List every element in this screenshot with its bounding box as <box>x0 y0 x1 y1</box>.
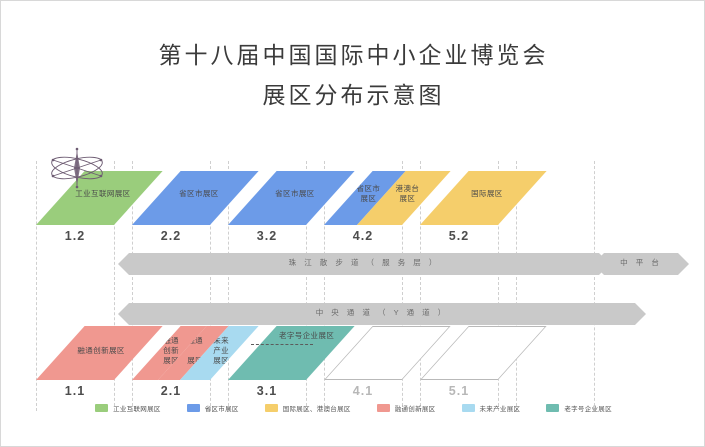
hall-3-1-number: 3.1 <box>228 384 306 398</box>
legend-swatch-international <box>265 404 278 412</box>
corridor-central-y: 中 央 通 道 （ Y 通 道 ） <box>129 303 635 325</box>
hall-2-2-number: 2.2 <box>132 229 210 243</box>
hall-4-2-number: 4.2 <box>324 229 402 243</box>
legend-label-2: 国际展区、港澳台展区 <box>283 403 351 413</box>
corridor-riverside-walk: 珠 江 散 步 道 （ 服 务 层 ） <box>129 253 599 275</box>
legend-item-3: 融通创新展区 <box>377 403 436 413</box>
hall-3-1-inner-divider <box>251 344 313 345</box>
legend-item-2: 国际展区、港澳台展区 <box>265 403 351 413</box>
legend-label-3: 融通创新展区 <box>395 403 436 413</box>
legend-label-0: 工业互联网展区 <box>113 403 161 413</box>
hall-3-2-zone-label: 省区市展区 <box>256 189 334 199</box>
title-line-1: 第十八届中国国际中小企业博览会 <box>1 35 705 75</box>
hall-5-2-number: 5.2 <box>420 229 498 243</box>
hall-2-2-zone-label: 省区市展区 <box>160 189 238 199</box>
legend-swatch-time-honored <box>546 404 559 412</box>
hall-4-2-zone-label-b: 港澳台 展区 <box>385 184 430 204</box>
legend-item-4: 未来产业展区 <box>462 403 521 413</box>
platform-middle: 中 平 台 <box>604 253 678 275</box>
hall-5-2-zone-label: 国际展区 <box>448 189 526 199</box>
corridor-left-cap <box>118 253 129 275</box>
platform-left-cap <box>593 253 604 275</box>
legend-item-0: 工业互联网展区 <box>95 403 161 413</box>
platform-right-cap <box>678 253 689 275</box>
corridor-riverside-label: 珠 江 散 步 道 （ 服 务 层 ） <box>129 257 599 268</box>
page-title: 第十八届中国国际中小企业博览会 展区分布示意图 <box>1 35 705 115</box>
legend-swatch-ronghe-innovation <box>377 404 390 412</box>
hall-1-2-number: 1.2 <box>36 229 114 243</box>
corridor-central-label: 中 央 通 道 （ Y 通 道 ） <box>129 307 635 318</box>
title-line-2: 展区分布示意图 <box>1 75 705 115</box>
hall-5-1-number: 5.1 <box>420 384 498 398</box>
legend: 工业互联网展区 省区市展区 国际展区、港澳台展区 融通创新展区 未来产业展区 老… <box>1 403 705 413</box>
hall-1-1-number: 1.1 <box>36 384 114 398</box>
guide-line <box>36 161 37 411</box>
legend-label-1: 省区市展区 <box>205 403 239 413</box>
guide-line <box>594 161 595 411</box>
hall-4-1-number: 4.1 <box>324 384 402 398</box>
legend-swatch-future-industry <box>462 404 475 412</box>
legend-label-4: 未来产业展区 <box>480 403 521 413</box>
legend-swatch-industrial-internet <box>95 404 108 412</box>
hall-2-1-number: 2.1 <box>132 384 210 398</box>
corridor-central-right-cap <box>635 303 646 325</box>
legend-item-1: 省区市展区 <box>187 403 239 413</box>
legend-label-5: 老字号企业展区 <box>564 403 612 413</box>
hall-3-2-number: 3.2 <box>228 229 306 243</box>
compass-rose-icon <box>47 145 107 191</box>
hall-3-1-zone-label: 老字号企业展区 <box>268 331 346 341</box>
platform-middle-label: 中 平 台 <box>604 257 678 268</box>
legend-swatch-provincial <box>187 404 200 412</box>
legend-item-5: 老字号企业展区 <box>546 403 612 413</box>
hall-1-1-zone-label: 融通创新展区 <box>62 346 140 356</box>
corridor-central-left-cap <box>118 303 129 325</box>
floorplan-page: 第十八届中国国际中小企业博览会 展区分布示意图 工业互联网展区 1.2 省区市展… <box>0 0 705 447</box>
